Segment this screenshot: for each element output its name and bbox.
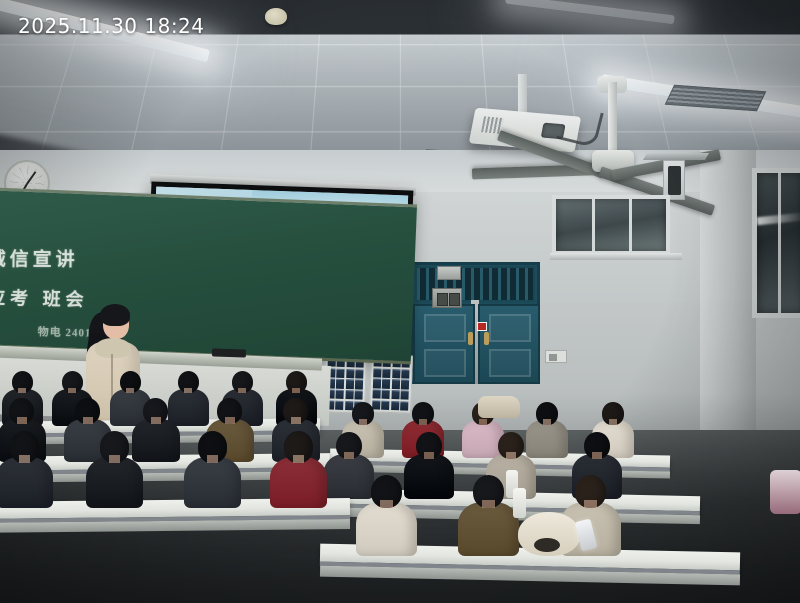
speaker-shelf <box>643 153 709 160</box>
student-torso <box>184 457 241 508</box>
timestamp-overlay: 2025.11.30 18:24 <box>18 14 205 38</box>
emergency-sign-icon <box>477 322 487 331</box>
phone-rack-slot <box>372 389 380 398</box>
window-sill <box>550 253 682 260</box>
phone-rack-slot <box>382 390 390 399</box>
blackboard-eraser <box>212 348 246 357</box>
seated-student <box>184 431 241 513</box>
student-torso <box>0 457 53 508</box>
phone-rack-slot <box>401 369 409 378</box>
student-torso <box>86 457 143 508</box>
chalk-line-1: 诚信宣讲 <box>0 244 79 271</box>
phone-rack-slot <box>401 390 409 399</box>
smoke-detector-icon <box>265 8 287 25</box>
phone-rack-slot <box>392 369 400 378</box>
window-interior <box>552 195 670 255</box>
phone-rack-slot <box>345 390 353 399</box>
phone-rack-slot <box>346 379 354 388</box>
wall-speaker <box>663 160 685 200</box>
bag-on-desk <box>478 396 520 418</box>
door-handle[interactable] <box>484 332 489 345</box>
student-neck <box>479 419 488 425</box>
student-torso <box>270 457 327 508</box>
seated-student <box>86 431 143 513</box>
phone-rack-slot <box>337 368 345 377</box>
phone-rack-slot <box>391 401 399 410</box>
seated-student <box>270 431 327 513</box>
student-torso <box>356 502 417 557</box>
phone-rack-slot <box>346 369 354 378</box>
wall-outlet <box>545 350 567 363</box>
student-neck <box>419 419 428 425</box>
student-neck <box>109 455 121 463</box>
wall-pillar <box>700 150 756 450</box>
classroom-door-left[interactable] <box>413 304 475 384</box>
student-torso <box>458 502 519 557</box>
student-neck <box>225 417 235 424</box>
phone-rack-slot <box>336 390 344 399</box>
student-neck <box>184 388 192 394</box>
electrical-box-small <box>437 266 461 280</box>
student-neck <box>380 500 393 508</box>
phone-rack-slot <box>355 380 363 389</box>
phone-rack-slot <box>382 379 390 388</box>
phone-rack-slot <box>336 379 344 388</box>
phone-rack-slot <box>401 380 409 389</box>
student-neck <box>609 419 618 425</box>
student-neck <box>126 388 134 394</box>
phone-rack-slot <box>373 368 381 377</box>
student-neck <box>293 455 305 463</box>
student-neck <box>359 419 368 425</box>
door-handle[interactable] <box>468 332 473 345</box>
student-neck <box>424 452 434 459</box>
photo-scene: 诚信宣讲 应考 班会 物电 2401班 ✳ ✳ ✳ ✳ 诚信应考教育主题班会 <box>0 0 800 603</box>
student-neck <box>151 417 161 424</box>
electrical-switch-box <box>432 288 462 308</box>
student-neck <box>68 388 76 394</box>
student-neck <box>17 417 27 424</box>
phone-rack-slot <box>373 379 381 388</box>
phone-rack-slot <box>392 379 400 388</box>
student-neck <box>291 417 301 424</box>
ceiling-fan-pole <box>608 82 617 154</box>
student-neck <box>238 388 246 394</box>
student-neck <box>83 417 93 424</box>
seated-student <box>0 431 53 513</box>
student-neck <box>506 452 516 459</box>
seated-student <box>356 475 417 563</box>
plastic-bag <box>770 470 800 514</box>
student-neck <box>592 452 602 459</box>
student-neck <box>584 500 597 508</box>
student-neck <box>19 455 31 463</box>
student-neck <box>207 455 219 463</box>
phone-rack-slot <box>383 368 391 377</box>
student-neck <box>344 452 354 459</box>
phone-rack-slot <box>355 390 363 399</box>
student-neck <box>482 500 495 508</box>
student-neck <box>543 419 552 425</box>
fluorescent-tube-light <box>505 0 675 24</box>
phone-rack-slot <box>391 390 399 399</box>
phone-rack-slot <box>355 369 363 378</box>
student-neck <box>292 388 300 394</box>
window-right <box>752 168 800 318</box>
cap-strap <box>534 538 560 552</box>
student-neck <box>18 388 26 394</box>
water-bottle <box>513 488 526 518</box>
chalk-line-2: 应考 班会 <box>0 284 89 312</box>
